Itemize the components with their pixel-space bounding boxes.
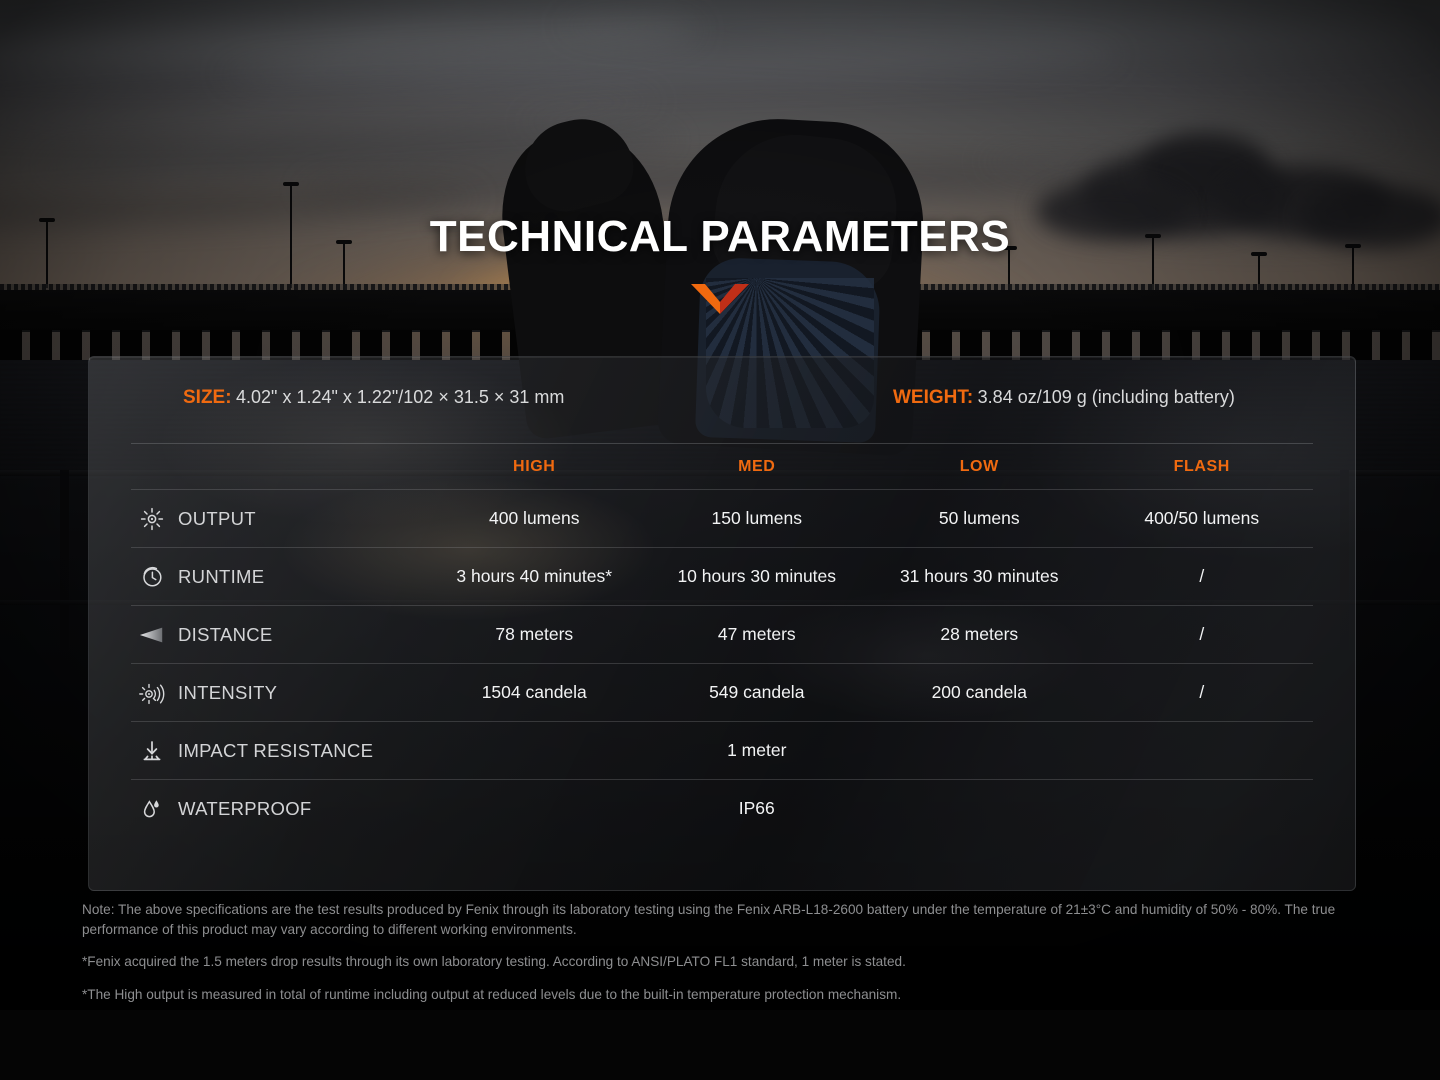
row-label-waterproof: WATERPROOF	[131, 796, 423, 822]
cell-output-flash: 400/50 lumens	[1091, 508, 1314, 529]
table-row: WATERPROOF IP66	[131, 779, 1313, 837]
column-header-low: LOW	[868, 458, 1091, 476]
table-row: INTENSITY 1504 candela 549 candela 200 c…	[131, 663, 1313, 721]
cell-output-med: 150 lumens	[646, 508, 869, 529]
weight-label: WEIGHT:	[893, 387, 973, 408]
cell-intensity-low: 200 candela	[868, 682, 1091, 703]
cell-output-low: 50 lumens	[868, 508, 1091, 529]
row-label-text: RUNTIME	[178, 566, 264, 588]
weight-spec: WEIGHT: 3.84 oz/109 g (including battery…	[893, 387, 1235, 409]
cell-runtime-med: 10 hours 30 minutes	[646, 566, 869, 587]
clock-icon	[139, 564, 165, 590]
water-droplet-icon	[139, 796, 165, 822]
cell-output-high: 400 lumens	[423, 508, 646, 529]
row-label-intensity: INTENSITY	[131, 680, 423, 706]
cell-runtime-flash: /	[1091, 566, 1314, 587]
footnotes: Note: The above specifications are the t…	[82, 900, 1372, 1005]
cell-intensity-med: 549 candela	[646, 682, 869, 703]
size-value: 4.02" x 1.24" x 1.22"/102 × 31.5 × 31 mm	[236, 387, 564, 407]
weight-value: 3.84 oz/109 g (including battery)	[978, 387, 1235, 407]
page-title-wrap: TECHNICAL PARAMETERS	[0, 212, 1440, 262]
row-label-text: IMPACT RESISTANCE	[178, 740, 373, 762]
row-label-distance: DISTANCE	[131, 622, 423, 648]
spec-panel: SIZE: 4.02" x 1.24" x 1.22"/102 × 31.5 ×…	[88, 356, 1356, 891]
technical-parameters-page: TECHNICAL PARAMETERS SIZE: 4.02" x 1.24"…	[0, 0, 1440, 1080]
table-row: IMPACT RESISTANCE 1 meter	[131, 721, 1313, 779]
dimensions-row: SIZE: 4.02" x 1.24" x 1.22"/102 × 31.5 ×…	[131, 357, 1313, 443]
light-intensity-icon	[139, 680, 165, 706]
chevron-down-icon	[691, 284, 749, 314]
footnote-impact: *Fenix acquired the 1.5 meters drop resu…	[82, 952, 1372, 972]
cell-distance-high: 78 meters	[423, 624, 646, 645]
column-header-med: MED	[646, 458, 869, 476]
cell-runtime-low: 31 hours 30 minutes	[868, 566, 1091, 587]
impact-drop-arrow-icon	[139, 738, 165, 764]
footnote-high-mode: *The High output is measured in total of…	[82, 985, 1372, 1005]
row-label-text: INTENSITY	[178, 682, 277, 704]
cell-intensity-high: 1504 candela	[423, 682, 646, 703]
cell-runtime-high: 3 hours 40 minutes*	[423, 566, 646, 587]
table-header-row: HIGH MED LOW FLASH	[131, 443, 1313, 489]
row-label-runtime: RUNTIME	[131, 564, 423, 590]
row-label-text: DISTANCE	[178, 624, 273, 646]
beam-cone-icon	[139, 622, 165, 648]
row-label-impact-resistance: IMPACT RESISTANCE	[131, 738, 423, 764]
size-label: SIZE:	[183, 387, 232, 408]
table-row: OUTPUT 400 lumens 150 lumens 50 lumens 4…	[131, 489, 1313, 547]
row-label-output: OUTPUT	[131, 506, 423, 532]
column-header-flash: FLASH	[1091, 458, 1314, 476]
cell-distance-flash: /	[1091, 624, 1314, 645]
cell-distance-low: 28 meters	[868, 624, 1091, 645]
row-label-text: WATERPROOF	[178, 798, 312, 820]
cell-distance-med: 47 meters	[646, 624, 869, 645]
cell-intensity-flash: /	[1091, 682, 1314, 703]
row-label-text: OUTPUT	[178, 508, 256, 530]
brightness-sun-icon	[139, 506, 165, 532]
footnote-general: Note: The above specifications are the t…	[82, 900, 1372, 939]
page-title: TECHNICAL PARAMETERS	[430, 212, 1010, 262]
spec-table: HIGH MED LOW FLASH	[131, 443, 1313, 837]
size-spec: SIZE: 4.02" x 1.24" x 1.22"/102 × 31.5 ×…	[183, 387, 564, 409]
cell-impact-resistance-value: 1 meter	[423, 740, 1091, 761]
column-header-high: HIGH	[423, 458, 646, 476]
table-row: RUNTIME 3 hours 40 minutes* 10 hours 30 …	[131, 547, 1313, 605]
cell-waterproof-value: IP66	[423, 798, 1091, 819]
table-row: DISTANCE 78 meters 47 meters 28 meters /	[131, 605, 1313, 663]
